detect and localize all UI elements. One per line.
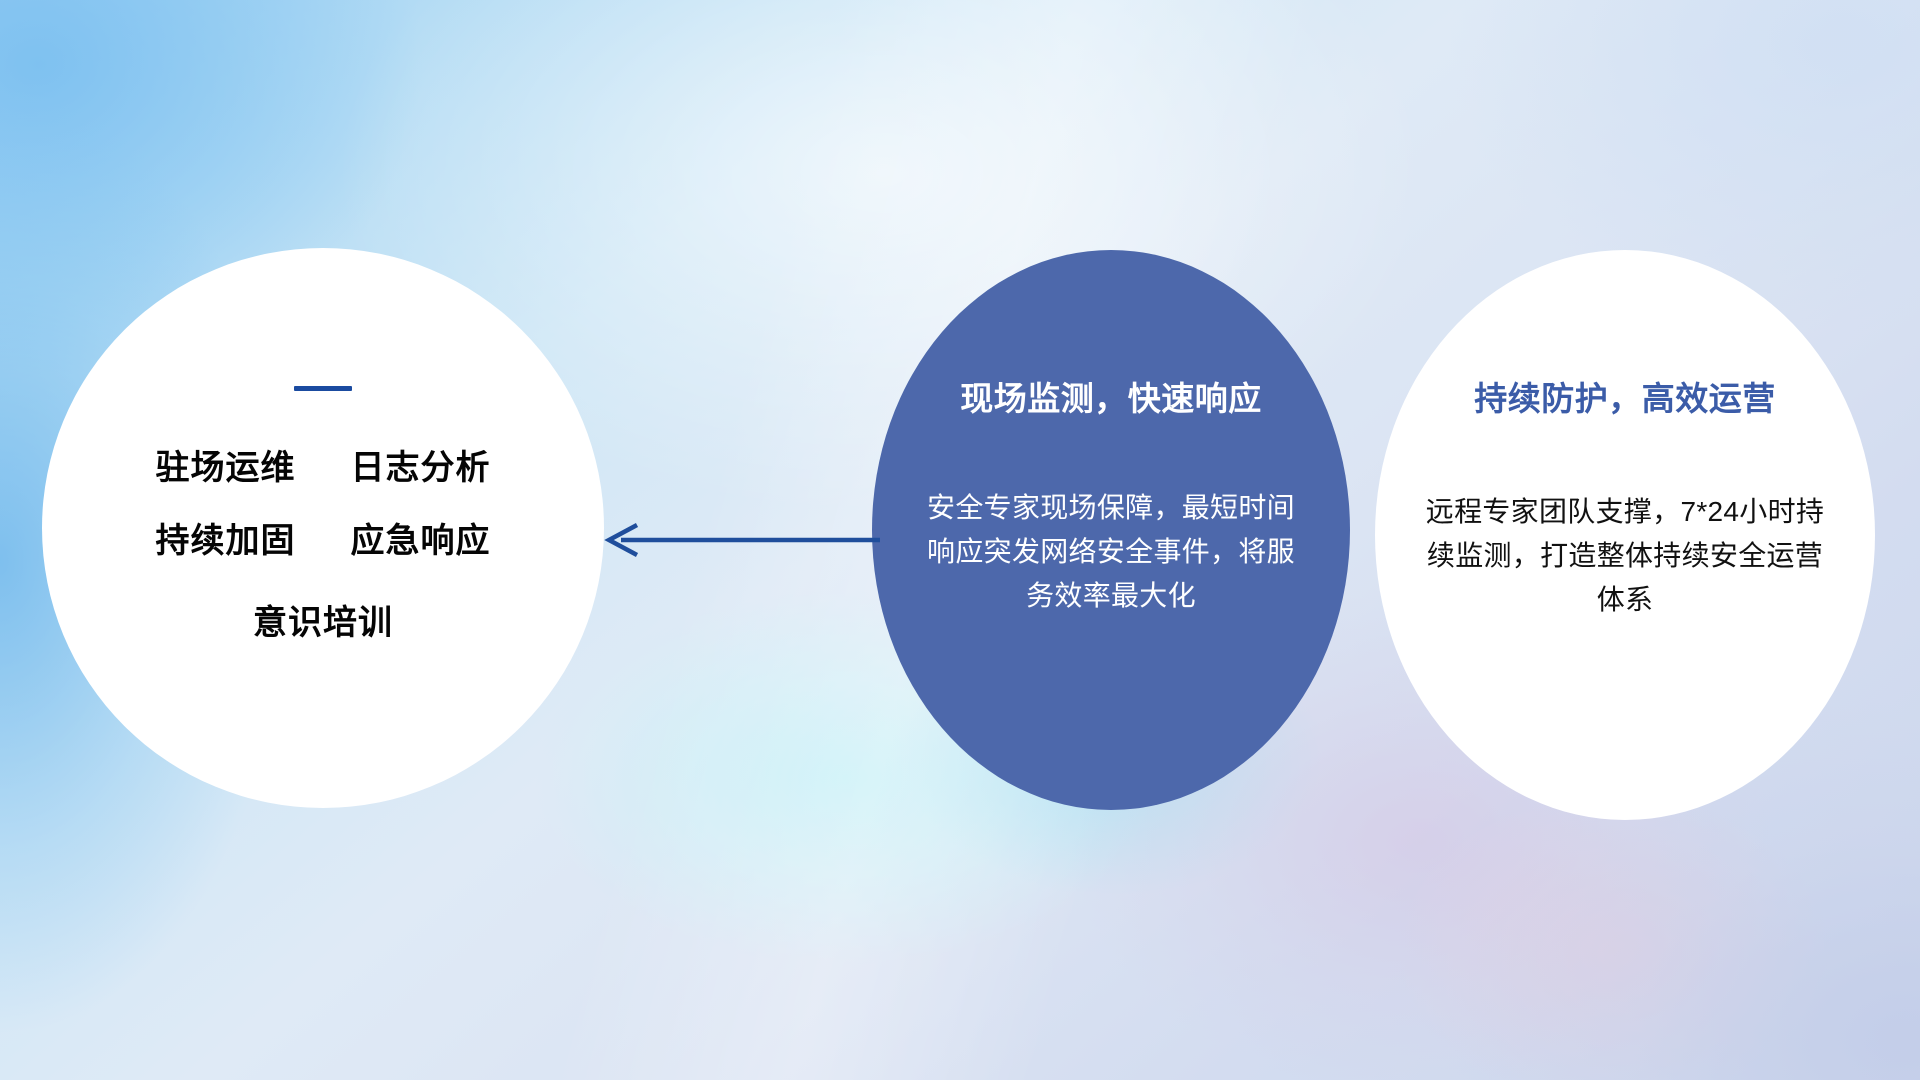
center-card-title: 现场监测，快速响应 bbox=[960, 372, 1262, 420]
center-card-body: 安全专家现场保障，最短时间响应突发网络安全事件，将服务效率最大化 bbox=[921, 486, 1301, 619]
left-card: 驻场运维 日志分析 持续加固 应急响应 意识培训 bbox=[42, 248, 604, 808]
right-card-title: 持续防护，高效运营 bbox=[1474, 372, 1776, 420]
left-card-tag-2: 日志分析 bbox=[350, 449, 490, 487]
left-card-tag-1: 驻场运维 bbox=[156, 449, 296, 487]
left-card-line-2: 持续加固 应急响应 bbox=[156, 524, 491, 560]
left-card-line-3: 意识培训 bbox=[253, 606, 393, 642]
left-card-tag-3: 持续加固 bbox=[156, 522, 296, 560]
center-card: 现场监测，快速响应 安全专家现场保障，最短时间响应突发网络安全事件，将服务效率最… bbox=[872, 250, 1350, 810]
slide-canvas: 驻场运维 日志分析 持续加固 应急响应 意识培训 现场监测，快速响应 安全专家现… bbox=[0, 0, 1920, 1080]
left-card-line-1: 驻场运维 日志分析 bbox=[156, 451, 491, 487]
right-card-body: 远程专家团队支撑，7*24小时持续监测，打造整体持续安全运营体系 bbox=[1415, 490, 1835, 623]
left-card-divider bbox=[294, 386, 352, 391]
arrow-left-icon bbox=[595, 505, 885, 575]
right-card: 持续防护，高效运营 远程专家团队支撑，7*24小时持续监测，打造整体持续安全运营… bbox=[1375, 250, 1875, 820]
left-card-tag-4: 应急响应 bbox=[350, 522, 490, 560]
